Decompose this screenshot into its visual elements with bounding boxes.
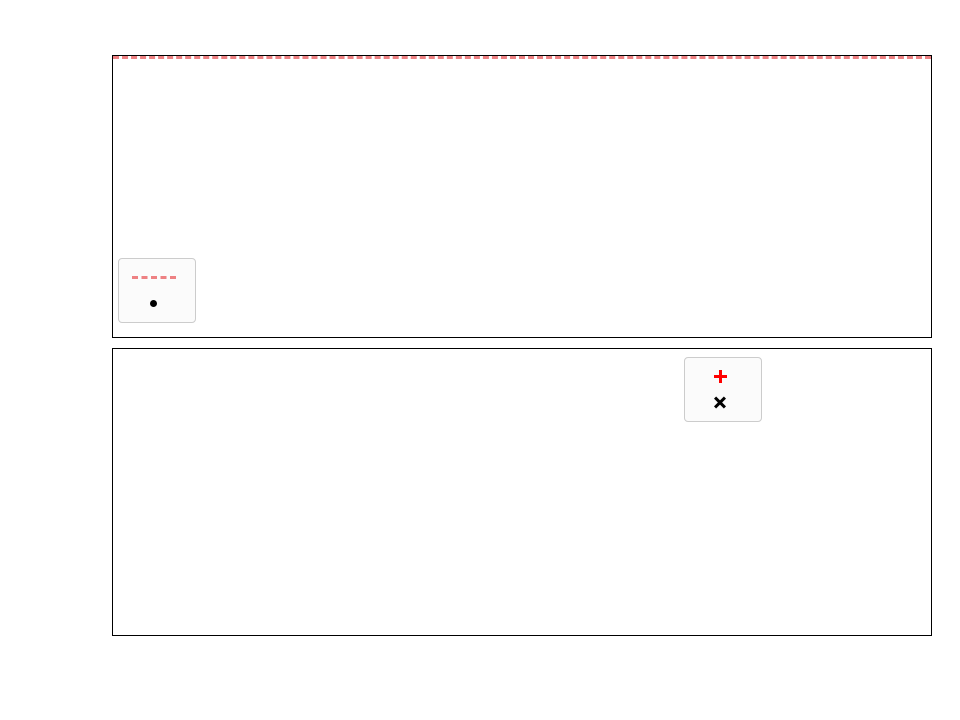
figure-canvas xyxy=(0,0,960,720)
legend-item-predicted-stars[interactable] xyxy=(694,389,752,415)
legend-item-matched-stars[interactable] xyxy=(694,363,752,389)
bottom-panel-axes xyxy=(112,348,932,636)
top-panel-axes xyxy=(112,55,932,338)
legend-item-measurements[interactable] xyxy=(128,290,186,316)
bottom-panel-legend[interactable] xyxy=(684,357,762,422)
top-panel-legend[interactable] xyxy=(118,258,196,323)
threshold-line xyxy=(113,56,931,59)
legend-item-threshold[interactable] xyxy=(128,264,186,290)
dot-marker-icon xyxy=(128,290,180,316)
dashed-line-icon xyxy=(128,264,180,290)
plus-marker-icon xyxy=(694,363,746,389)
cross-marker-icon xyxy=(694,389,746,415)
